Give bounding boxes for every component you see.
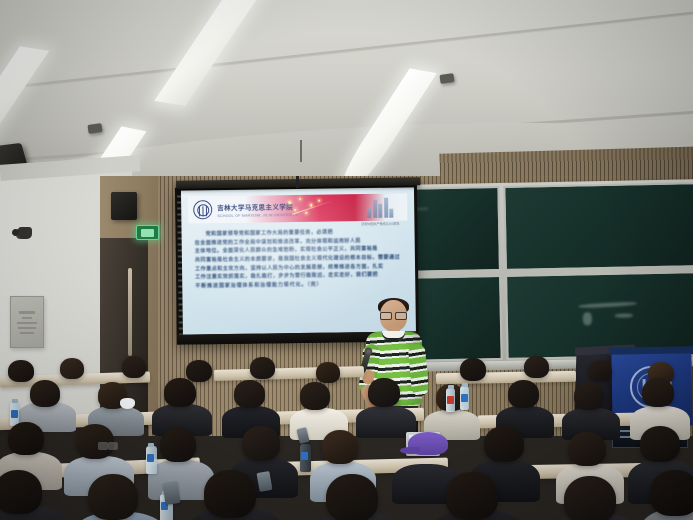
audience-head xyxy=(316,362,340,383)
audience-head xyxy=(568,432,606,466)
audience-head xyxy=(460,358,486,381)
audience-head xyxy=(242,426,280,461)
ceiling-drop-rod xyxy=(300,140,302,162)
audience-head xyxy=(446,472,498,520)
baseball-cap xyxy=(408,432,448,455)
audience-head xyxy=(60,358,84,379)
audience-head xyxy=(234,380,265,408)
audience-head xyxy=(508,380,539,408)
slide-text-line: 不断推进国家治理体系和治理能力现代化。（完） xyxy=(195,282,402,290)
university-seal-icon xyxy=(193,200,212,219)
audience-head xyxy=(642,378,674,407)
audience xyxy=(0,366,693,520)
audience-head xyxy=(484,426,524,462)
audience-head xyxy=(30,380,60,407)
audience-head xyxy=(524,356,549,378)
face-mask-icon xyxy=(120,398,135,409)
chalkboard-frame xyxy=(402,179,693,365)
audience-head xyxy=(640,426,680,462)
screen-hook xyxy=(296,176,299,188)
audience-head xyxy=(368,378,400,407)
exit-sign-icon xyxy=(136,225,159,240)
audience-head xyxy=(650,470,693,516)
ceiling-light-icon xyxy=(0,46,49,159)
chalk-mark xyxy=(615,313,633,317)
chalk-mark xyxy=(579,301,637,308)
ceiling-light-icon xyxy=(154,0,272,106)
audience-head xyxy=(0,470,42,514)
security-camera-icon xyxy=(18,227,32,239)
wall-speaker-icon xyxy=(111,192,137,220)
fireworks-icon xyxy=(280,194,337,222)
audience-head xyxy=(122,356,146,378)
thermos-bottle xyxy=(300,444,311,472)
desk xyxy=(436,371,576,384)
glasses-icon xyxy=(380,312,407,318)
audience-head xyxy=(250,357,275,379)
slide-text-line: 党和国家领导党和国家工作大局的重要任务，必须把 xyxy=(195,230,402,238)
audience-head xyxy=(164,378,196,407)
presenter-collar xyxy=(382,331,405,340)
lecture-hall-photo: 吉林大学马克思主义学院 SCHOOL OF MARXISM, JILIN UNI… xyxy=(0,0,693,520)
chalkboard-panel xyxy=(503,182,693,271)
audience-head xyxy=(300,382,330,410)
audience-head xyxy=(160,428,196,462)
podium-top xyxy=(609,346,693,354)
ceiling-sensor-icon xyxy=(87,123,102,134)
slide-text-line: 主体地位。全面深化人民群众的急难愁盼，实现社会公平正义，共同富裕是 xyxy=(195,247,402,255)
water-bottle xyxy=(146,446,157,474)
water-bottle xyxy=(446,388,455,412)
audience-head xyxy=(326,474,378,520)
audience-head xyxy=(8,360,34,382)
building-graphic-icon xyxy=(367,197,397,218)
audience-head xyxy=(8,422,44,455)
slide-banner: 吉林大学马克思主义学院 SCHOOL OF MARXISM, JILIN UNI… xyxy=(188,193,407,223)
desk xyxy=(214,366,364,381)
glasses-icon xyxy=(98,442,118,448)
chalkboard xyxy=(402,179,693,365)
audience-head xyxy=(588,360,612,381)
audience-head xyxy=(186,360,212,382)
audience-head xyxy=(574,382,604,410)
slide-text-line: 共同富裕是社会主义的本质要求，是我国社会主义现代化建设的根本目标，需要通过 xyxy=(195,256,402,264)
audience-head xyxy=(322,430,358,464)
wall-plaque xyxy=(10,296,44,348)
smartphone[interactable] xyxy=(163,481,181,505)
water-bottle xyxy=(460,386,469,410)
ceiling-sensor-icon xyxy=(439,73,454,84)
door-handle[interactable] xyxy=(128,268,132,356)
banner-footer-note: 庆祝中国共产党成立103周年 xyxy=(361,222,399,227)
audience-head xyxy=(88,474,138,520)
audience-head xyxy=(204,470,256,518)
chalk-mark xyxy=(583,312,592,325)
slide-body-text: 党和国家领导党和国家工作大局的重要任务，必须把 在全面推进党的工作全局中谋划和推… xyxy=(195,230,403,290)
audience-head xyxy=(564,476,616,520)
slide-text-line: 工作注重实效抓落实，稳扎稳打，步步为营行稳致远，走实走好，我们要把 xyxy=(195,273,402,281)
chalkboard-panel xyxy=(405,186,500,273)
ceiling-seam xyxy=(0,9,693,90)
